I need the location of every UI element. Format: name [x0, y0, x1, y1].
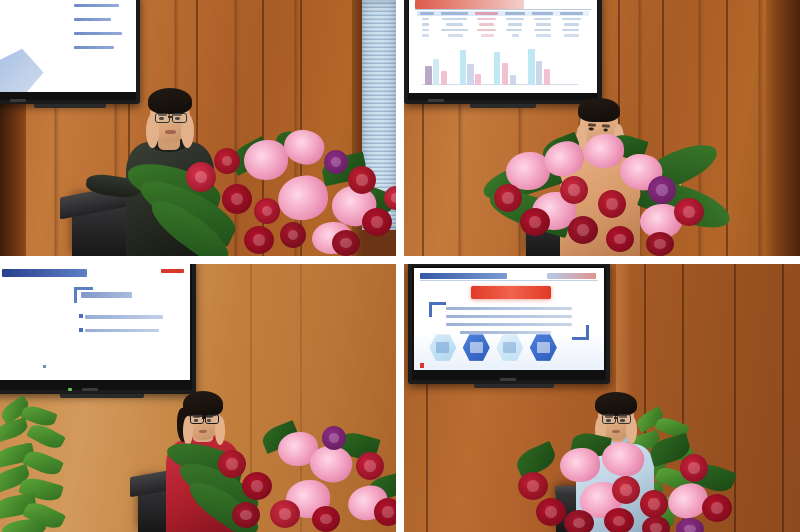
slide4-hero-title: [471, 286, 551, 298]
panel-bottom-left[interactable]: [0, 264, 396, 532]
panel-top-right[interactable]: [404, 0, 800, 256]
slide2-bar-chart: [422, 49, 578, 85]
photo-collage: [0, 0, 800, 532]
slide3-accent-tab: [161, 269, 184, 274]
flower-arrangement-3: [170, 424, 396, 532]
collage-gap-vertical: [396, 0, 404, 532]
flower-arrangement-1: [126, 126, 396, 256]
hexagon-3: [496, 334, 523, 361]
panel-bottom-right[interactable]: [404, 264, 800, 532]
speaker-3-glasses: [190, 414, 204, 424]
slide3-bullet-dot-2: [79, 328, 83, 332]
potted-plant: [0, 402, 84, 532]
slide-bullet-1: [74, 4, 119, 7]
slide4-body-line-3: [446, 323, 571, 326]
slide3-footer-dot: [43, 365, 46, 368]
table-row: [417, 33, 590, 38]
speaker-1-hair: [148, 88, 192, 114]
presentation-screen-1[interactable]: [0, 0, 140, 104]
speaker-1-glasses-right: [172, 113, 187, 123]
flower-arrangement-2: [488, 130, 728, 256]
slide-content-4: [414, 268, 604, 370]
slide2-heading: [415, 0, 592, 9]
slide-content-1: [0, 0, 136, 92]
speaker-1-glasses: [155, 113, 170, 123]
slide3-section-title: [81, 292, 131, 298]
slide-decoration: [0, 49, 44, 92]
table-row: [417, 28, 590, 33]
hexagon-4: [530, 334, 557, 361]
slide-bullet-2: [74, 18, 110, 21]
slide4-hexagon-row: [429, 334, 589, 361]
tv-indicator-light: [68, 388, 72, 391]
slide3-body-line-1: [85, 315, 163, 318]
hexagon-2: [463, 334, 490, 361]
slide3-heading: [2, 269, 87, 277]
speaker-2-hair: [578, 98, 620, 122]
speaker-3-glasses-right: [205, 414, 219, 424]
collage-gap-horizontal: [0, 256, 800, 264]
table-row: [417, 22, 590, 27]
slide4-nav-title: [420, 273, 507, 279]
wall-edge-right: [766, 0, 800, 256]
slide4-page-marker: [420, 363, 424, 368]
slide4-logo: [547, 273, 596, 279]
slide-bullet-3: [74, 32, 122, 35]
panel-top-left[interactable]: [0, 0, 396, 256]
slide-bullet-4: [74, 46, 113, 49]
slide4-bracket-tl: [429, 302, 446, 317]
table-header-row: [417, 11, 590, 16]
presentation-screen-3[interactable]: [0, 264, 196, 394]
slide2-table: [417, 11, 590, 40]
slide-content-2: [409, 0, 597, 93]
slide3-body-line-2: [85, 329, 159, 332]
flower-arrangement-4: [516, 432, 736, 532]
speaker-4-glasses-right: [617, 414, 631, 424]
slide3-bullet-dot: [79, 314, 83, 318]
presentation-screen-4[interactable]: [408, 264, 610, 384]
presentation-screen-2[interactable]: [404, 0, 602, 104]
slide4-body-line-2: [446, 315, 571, 318]
slide-content-3: [0, 264, 190, 380]
speaker-4-glasses: [602, 414, 616, 424]
speaker-4-hair: [595, 392, 637, 416]
slide4-body-line-1: [446, 307, 571, 310]
hexagon-1: [429, 334, 456, 361]
table-row: [417, 17, 590, 22]
